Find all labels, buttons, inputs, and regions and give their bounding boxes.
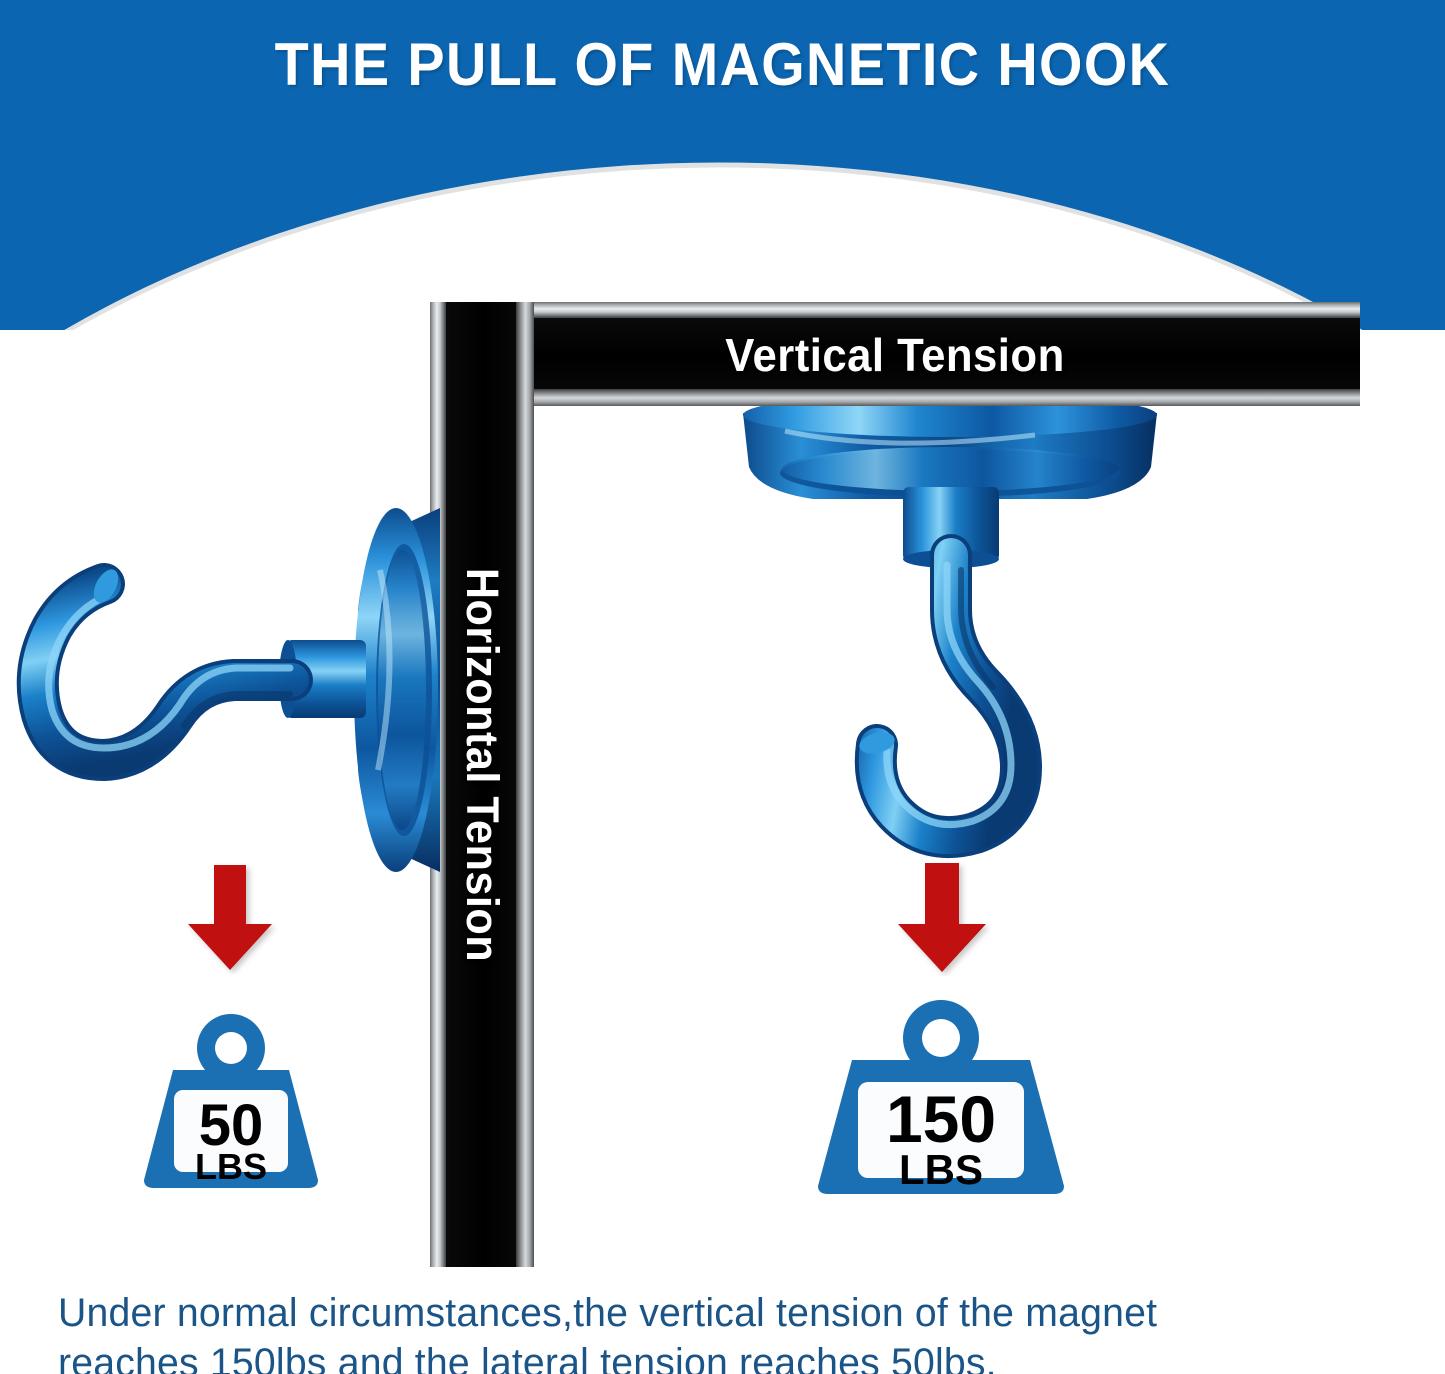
weight-badge-150: 150 LBS xyxy=(812,994,1070,1205)
infographic-canvas: THE PULL OF MAGNETIC HOOK xyxy=(0,0,1445,1374)
hook-body xyxy=(876,555,1021,837)
hook-body xyxy=(38,584,292,760)
caption-block: Under normal circumstances,the vertical … xyxy=(58,1288,1371,1374)
wall-bar-right-edge xyxy=(516,302,534,1267)
header-banner: THE PULL OF MAGNETIC HOOK xyxy=(0,0,1445,330)
caption-line-2: reaches 150lbs and the lateral tension r… xyxy=(58,1338,1371,1374)
horizontal-magnetic-hook-illustration xyxy=(0,470,460,890)
weight-value-150: 150 xyxy=(886,1082,996,1156)
magnet-disc xyxy=(354,508,440,872)
left-down-arrow xyxy=(180,862,280,979)
ceiling-bar-bottom-edge xyxy=(430,389,1360,406)
weight-unit-150: LBS xyxy=(899,1146,983,1193)
page-title: THE PULL OF MAGNETIC HOOK xyxy=(51,30,1395,99)
weight-unit-50: LBS xyxy=(195,1146,267,1187)
horizontal-tension-label: Horizontal Tension xyxy=(456,568,508,962)
ceiling-bar: Vertical Tension xyxy=(430,302,1360,406)
vertical-tension-label: Vertical Tension xyxy=(453,320,1337,389)
right-down-arrow xyxy=(890,860,994,981)
caption-line-1: Under normal circumstances,the vertical … xyxy=(58,1288,1371,1338)
ceiling-bar-top-edge xyxy=(430,302,1360,318)
weight-badge-50: 50 LBS xyxy=(140,1006,322,1197)
magnet-disc xyxy=(743,395,1157,499)
vertical-magnetic-hook-illustration xyxy=(735,395,1165,865)
